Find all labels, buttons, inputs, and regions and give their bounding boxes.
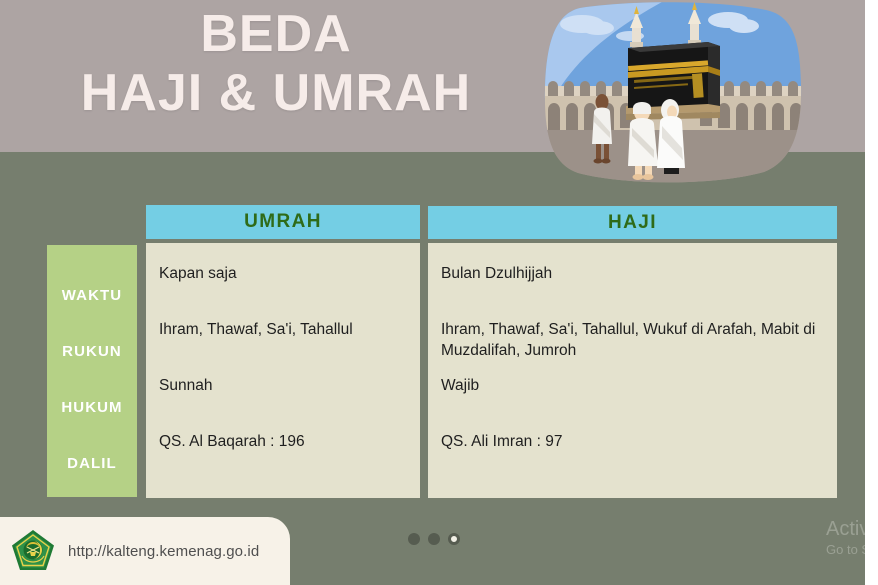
row-label-waktu: WAKTU — [47, 267, 137, 323]
title-line-2: HAJI & UMRAH — [0, 67, 552, 120]
haji-waktu-value: Bulan Dzulhijjah — [441, 263, 552, 284]
haji-hukum-value: Wajib — [441, 375, 479, 396]
umrah-content-column: Kapan saja Ihram, Thawaf, Sa'i, Tahallul… — [146, 243, 420, 498]
row-label-dalil-text: DALIL — [67, 455, 117, 472]
umrah-row-dalil: QS. Al Baqarah : 196 — [159, 431, 420, 487]
kaaba-pilgrims-illustration — [542, 2, 804, 184]
column-header-haji-label: HAJI — [608, 212, 657, 234]
slide-canvas: BEDA HAJI & UMRAH — [0, 0, 878, 585]
umrah-dalil-value: QS. Al Baqarah : 196 — [159, 431, 305, 452]
row-label-column: WAKTU RUKUN HUKUM DALIL — [47, 245, 137, 497]
umrah-row-waktu: Kapan saja — [159, 263, 420, 319]
haji-dalil-value: QS. Ali Imran : 97 — [441, 431, 562, 452]
row-label-rukun: RUKUN — [47, 323, 137, 379]
haji-row-rukun: Ihram, Thawaf, Sa'i, Tahallul, Wukuf di … — [441, 319, 837, 375]
page-title: BEDA HAJI & UMRAH — [0, 8, 552, 120]
pagination-dots[interactable] — [408, 533, 460, 545]
row-label-hukum-text: HUKUM — [61, 399, 122, 416]
row-label-hukum: HUKUM — [47, 379, 137, 435]
umrah-waktu-value: Kapan saja — [159, 263, 237, 284]
row-label-dalil: DALIL — [47, 435, 137, 491]
title-line-1: BEDA — [0, 8, 552, 61]
column-header-umrah-label: UMRAH — [244, 211, 322, 233]
umrah-row-hukum: Sunnah — [159, 375, 420, 431]
umrah-hukum-value: Sunnah — [159, 375, 212, 396]
row-label-rukun-text: RUKUN — [62, 343, 122, 360]
pagination-dot-1[interactable] — [408, 533, 420, 545]
row-label-waktu-text: WAKTU — [62, 287, 123, 304]
pagination-dot-3-active[interactable] — [448, 533, 460, 545]
kemenag-pentagon-logo — [10, 528, 56, 574]
haji-row-dalil: QS. Ali Imran : 97 — [441, 431, 837, 487]
branding-panel: http://kalteng.kemenag.go.id — [0, 517, 290, 585]
umrah-rukun-value: Ihram, Thawaf, Sa'i, Tahallul — [159, 319, 353, 340]
haji-row-waktu: Bulan Dzulhijjah — [441, 263, 837, 319]
column-header-haji: HAJI — [428, 206, 837, 239]
umrah-row-rukun: Ihram, Thawaf, Sa'i, Tahallul — [159, 319, 420, 375]
column-header-umrah: UMRAH — [146, 205, 420, 239]
haji-rukun-value: Ihram, Thawaf, Sa'i, Tahallul, Wukuf di … — [441, 319, 837, 362]
haji-row-hukum: Wajib — [441, 375, 837, 431]
haji-content-column: Bulan Dzulhijjah Ihram, Thawaf, Sa'i, Ta… — [428, 243, 837, 498]
right-page-gutter — [865, 0, 878, 585]
pagination-dot-2[interactable] — [428, 533, 440, 545]
brand-url-text: http://kalteng.kemenag.go.id — [68, 543, 259, 560]
